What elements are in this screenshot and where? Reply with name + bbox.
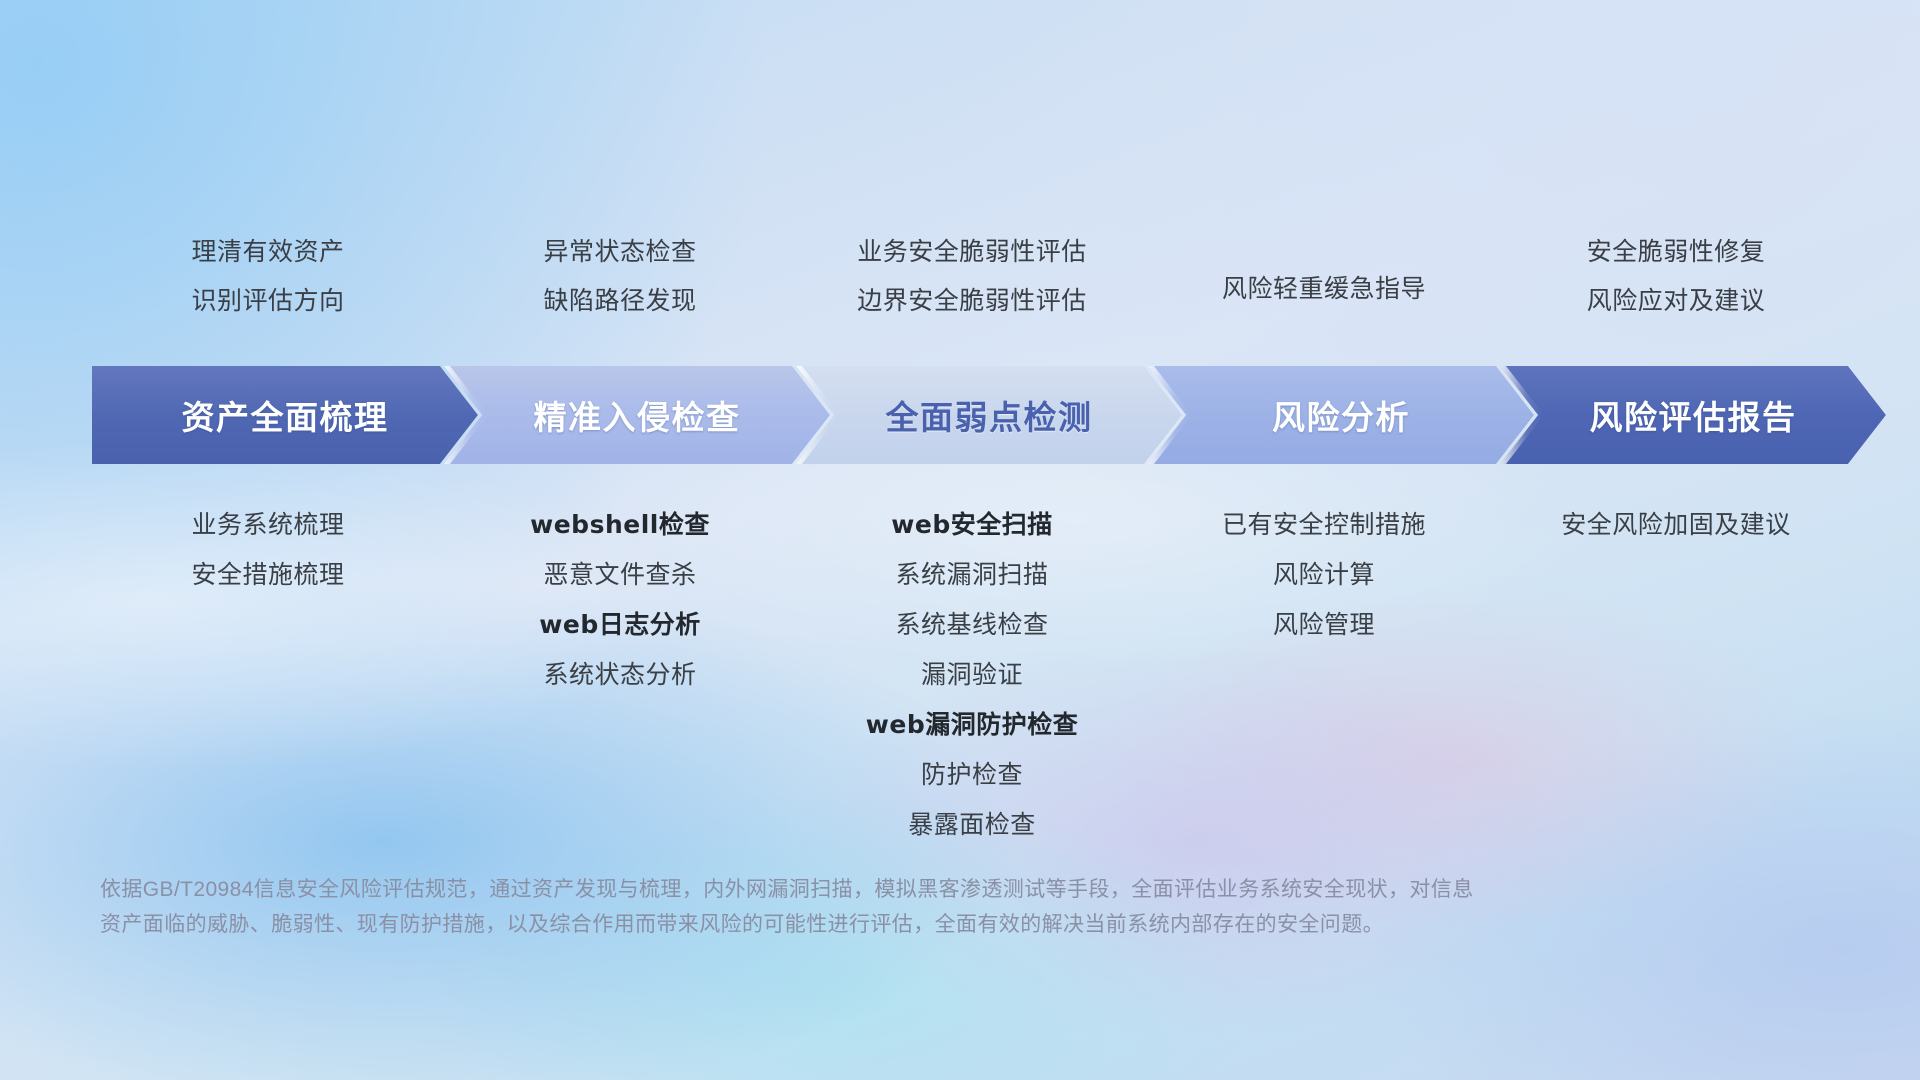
stage-outputs-2: 异常状态检查 缺陷路径发现 (444, 228, 796, 326)
task-item: web安全扫描 (891, 500, 1052, 550)
task-item: 暴露面检查 (908, 800, 1036, 850)
output-note: 理清有效资产 (191, 228, 344, 277)
task-item: 系统基线检查 (895, 600, 1048, 650)
task-item: 业务系统梳理 (191, 500, 344, 550)
footer-description: 依据GB/T20984信息安全风险评估规范，通过资产发现与梳理，内外网漏洞扫描，… (100, 872, 1800, 942)
diagram-canvas: 理清有效资产 识别评估方向 异常状态检查 缺陷路径发现 业务安全脆弱性评估 边界… (0, 0, 1920, 1080)
task-item: web漏洞防护检查 (866, 700, 1078, 750)
stage-outputs-1: 理清有效资产 识别评估方向 (92, 228, 444, 326)
task-item: web日志分析 (539, 600, 700, 650)
stage-chevron-intrusion-check[interactable]: 精准入侵检查 (444, 366, 830, 464)
stage-chevron-weakness-detection[interactable]: 全面弱点检测 (796, 366, 1182, 464)
stage-outputs-row: 理清有效资产 识别评估方向 异常状态检查 缺陷路径发现 业务安全脆弱性评估 边界… (92, 228, 1852, 326)
task-item: 系统漏洞扫描 (895, 550, 1048, 600)
footer-line-1: 依据GB/T20984信息安全风险评估规范，通过资产发现与梳理，内外网漏洞扫描，… (100, 872, 1800, 907)
output-note: 风险轻重缓急指导 (1222, 265, 1426, 314)
output-note: 业务安全脆弱性评估 (857, 228, 1087, 277)
task-item: 已有安全控制措施 (1222, 500, 1426, 550)
stage-tasks-1: 业务系统梳理 安全措施梳理 (92, 500, 444, 600)
output-note: 缺陷路径发现 (543, 277, 696, 326)
stage-tasks-row: 业务系统梳理 安全措施梳理 webshell检查 恶意文件查杀 web日志分析 … (92, 500, 1852, 850)
output-note: 风险应对及建议 (1587, 277, 1766, 326)
stage-outputs-3: 业务安全脆弱性评估 边界安全脆弱性评估 (796, 228, 1148, 326)
stage-tasks-2: webshell检查 恶意文件查杀 web日志分析 系统状态分析 (444, 500, 796, 700)
stage-tasks-3: web安全扫描 系统漏洞扫描 系统基线检查 漏洞验证 web漏洞防护检查 防护检… (796, 500, 1148, 850)
stage-chevron-risk-analysis[interactable]: 风险分析 (1148, 366, 1534, 464)
stage-label: 精准入侵检查 (534, 391, 741, 439)
stage-label: 风险分析 (1272, 391, 1410, 439)
stage-label: 风险评估报告 (1590, 391, 1797, 439)
stage-label: 资产全面梳理 (182, 391, 389, 439)
footer-line-2: 资产面临的威胁、脆弱性、现有防护措施，以及综合作用而带来风险的可能性进行评估，全… (100, 907, 1800, 942)
task-item: webshell检查 (530, 500, 710, 550)
output-note: 安全脆弱性修复 (1587, 228, 1766, 277)
task-item: 安全风险加固及建议 (1561, 500, 1791, 550)
process-chevron-band: 资产全面梳理 精准入侵检查 全面弱点检测 风险分析 风险评估报告 (92, 366, 1852, 464)
task-item: 风险管理 (1273, 600, 1375, 650)
stage-outputs-5: 安全脆弱性修复 风险应对及建议 (1500, 228, 1852, 326)
stage-chevron-asset-inventory[interactable]: 资产全面梳理 (92, 366, 478, 464)
stage-tasks-5: 安全风险加固及建议 (1500, 500, 1852, 550)
task-item: 恶意文件查杀 (543, 550, 696, 600)
task-item: 风险计算 (1273, 550, 1375, 600)
task-item: 防护检查 (921, 750, 1023, 800)
task-item: 系统状态分析 (543, 650, 696, 700)
output-note: 识别评估方向 (191, 277, 344, 326)
stage-label: 全面弱点检测 (886, 391, 1093, 439)
stage-chevron-assessment-report[interactable]: 风险评估报告 (1500, 366, 1886, 464)
stage-tasks-4: 已有安全控制措施 风险计算 风险管理 (1148, 500, 1500, 650)
task-item: 安全措施梳理 (191, 550, 344, 600)
output-note: 异常状态检查 (543, 228, 696, 277)
task-item: 漏洞验证 (921, 650, 1023, 700)
stage-outputs-4: 风险轻重缓急指导 (1148, 228, 1500, 326)
output-note: 边界安全脆弱性评估 (857, 277, 1087, 326)
